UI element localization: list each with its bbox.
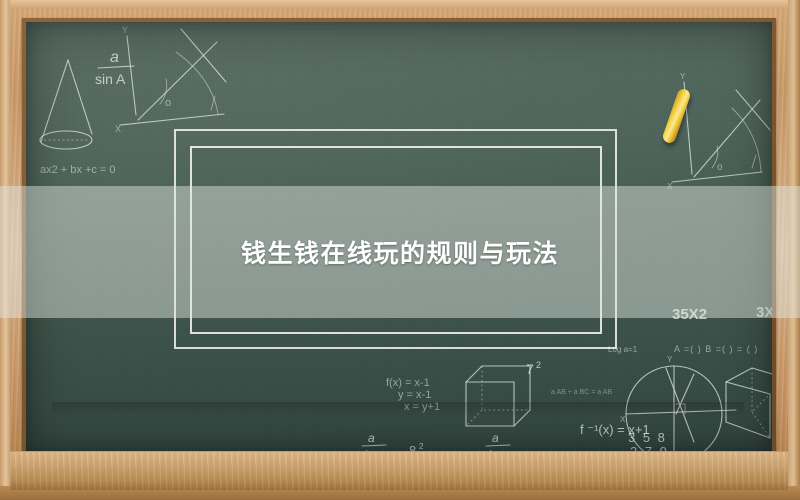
frame-top-edge: [0, 0, 800, 9]
svg-text:X: X: [115, 124, 121, 134]
frame-left-edge: [0, 0, 10, 500]
chalkboard-surface: a sin A Y X o ax2 + bx +c: [26, 22, 772, 452]
expr-3x2: 3X2: [756, 304, 772, 321]
eight-exponent: 2: [419, 442, 424, 451]
cone-sketch: [40, 60, 92, 149]
expr-35x2: 35X2: [672, 306, 707, 323]
svg-text:o: o: [165, 97, 171, 109]
svg-text:o: o: [717, 162, 723, 173]
svg-text:Y: Y: [667, 355, 673, 364]
svg-text:a: a: [368, 431, 375, 445]
svg-text:f(x) = x-1: f(x) = x-1: [386, 377, 430, 389]
decorative-rectangle-inner: [190, 146, 602, 334]
subtraction-sum: 3 5 8 2 7 9 6 3 7: [626, 430, 671, 452]
svg-text:3 5 8: 3 5 8: [628, 430, 667, 445]
fraction-a-over-sin-a-top: a sin A: [95, 49, 134, 87]
seven-exponent: 2: [536, 360, 541, 370]
seven-base: 7: [526, 361, 534, 377]
angle-axes-sketch-top-left: Y X o: [115, 25, 226, 134]
matrix-note: A =( ) B =( ) = ( ): [674, 344, 758, 354]
faint-ratio-note: a AB + a BC = a AB: [551, 389, 612, 396]
quadratic-equation-text: ax2 + bx +c = 0: [40, 164, 116, 176]
board-tray-shadow: [52, 402, 744, 416]
fraction-a-over-sin-a-center: a sin A: [484, 431, 513, 452]
svg-text:y = x-1: y = x-1: [398, 389, 431, 401]
svg-text:a: a: [492, 431, 499, 445]
svg-text:X: X: [620, 415, 626, 424]
svg-text:a: a: [110, 49, 119, 66]
svg-text:Y: Y: [122, 25, 128, 35]
fraction-a-over-sin-a-bottom-left: a sin A: [360, 431, 389, 452]
svg-text:X: X: [667, 182, 673, 191]
chalkboard-banner-image: a sin A Y X o ax2 + bx +c: [0, 0, 800, 500]
svg-text:Y: Y: [680, 72, 686, 81]
wooden-ledge: [10, 451, 788, 490]
cube-sketch-left: [466, 366, 530, 426]
svg-text:sin A: sin A: [95, 71, 126, 87]
frame-right-edge: [788, 0, 800, 500]
